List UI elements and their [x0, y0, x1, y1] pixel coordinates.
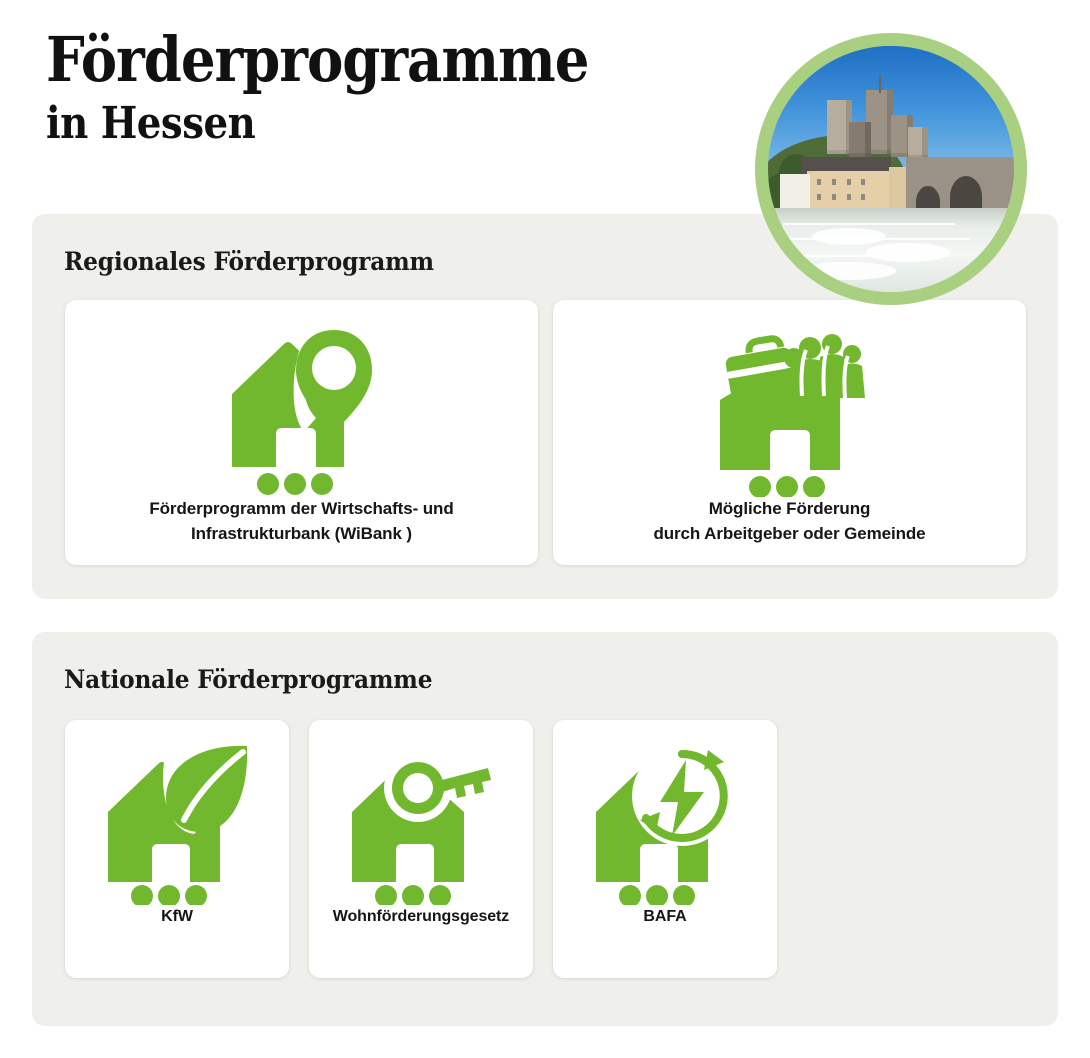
photo-townhouse-white — [780, 174, 810, 211]
page-title: Förderprogramme — [46, 28, 662, 92]
photo-castle-wall — [849, 122, 871, 156]
photo-weir-line — [783, 223, 955, 225]
house-briefcase-people-icon — [710, 322, 870, 497]
hero-photo-ring — [755, 33, 1027, 305]
card-label-line1: Mögliche Förderung — [653, 497, 925, 522]
card-wohnfoerderungsgesetz[interactable]: Wohnförderungsgesetz — [309, 720, 533, 978]
card-label-kfw: KfW — [145, 905, 209, 928]
photo-window — [817, 194, 821, 200]
photo-townhouse — [807, 171, 888, 213]
photo-window — [817, 179, 821, 185]
section-nationale-foerderprogramme: Nationale Förderprogramme KfW — [32, 632, 1058, 1026]
section-title-national: Nationale Förderprogramme — [64, 665, 432, 694]
card-bafa[interactable]: BAFA — [553, 720, 777, 978]
photo-window — [861, 179, 865, 185]
card-label-wibank: Förderprogramm der Wirtschafts- und Infr… — [133, 497, 469, 546]
card-wibank[interactable]: Förderprogramm der Wirtschafts- und Infr… — [65, 300, 538, 565]
photo-foam — [798, 262, 896, 279]
hero-photo-castle-runkel — [768, 46, 1014, 292]
card-label-line2: Infrastrukturbank (WiBank ) — [149, 522, 453, 547]
card-label-line1: Förderprogramm der Wirtschafts- und — [149, 497, 453, 522]
card-arbeitgeber-gemeinde[interactable]: Mögliche Förderung durch Arbeitgeber ode… — [553, 300, 1026, 565]
house-energy-icon — [590, 740, 740, 905]
page-header: Förderprogramme in Hessen — [46, 28, 746, 149]
card-label-wohnfoerderungsgesetz: Wohnförderungsgesetz — [317, 905, 525, 928]
house-leaf-icon — [102, 740, 252, 905]
photo-window — [832, 179, 836, 185]
card-label-arbeitgeber: Mögliche Förderung durch Arbeitgeber ode… — [637, 497, 941, 546]
photo-window — [847, 194, 851, 200]
page-subtitle: in Hessen — [46, 100, 662, 148]
photo-window — [847, 179, 851, 185]
card-kfw[interactable]: KfW — [65, 720, 289, 978]
house-map-pin-icon — [224, 322, 379, 497]
photo-castle-tower-left — [827, 100, 852, 154]
photo-castle-wall-right — [908, 127, 928, 159]
photo-castle-flagpole — [879, 76, 881, 93]
photo-window — [861, 194, 865, 200]
card-label-line2: durch Arbeitgeber oder Gemeinde — [653, 522, 925, 547]
infographic-page: Förderprogramme in Hessen — [0, 0, 1090, 1058]
card-label-bafa: BAFA — [627, 905, 702, 928]
photo-window — [832, 194, 836, 200]
house-key-icon — [346, 740, 496, 905]
section-title-regional: Regionales Förderprogramm — [64, 247, 434, 276]
